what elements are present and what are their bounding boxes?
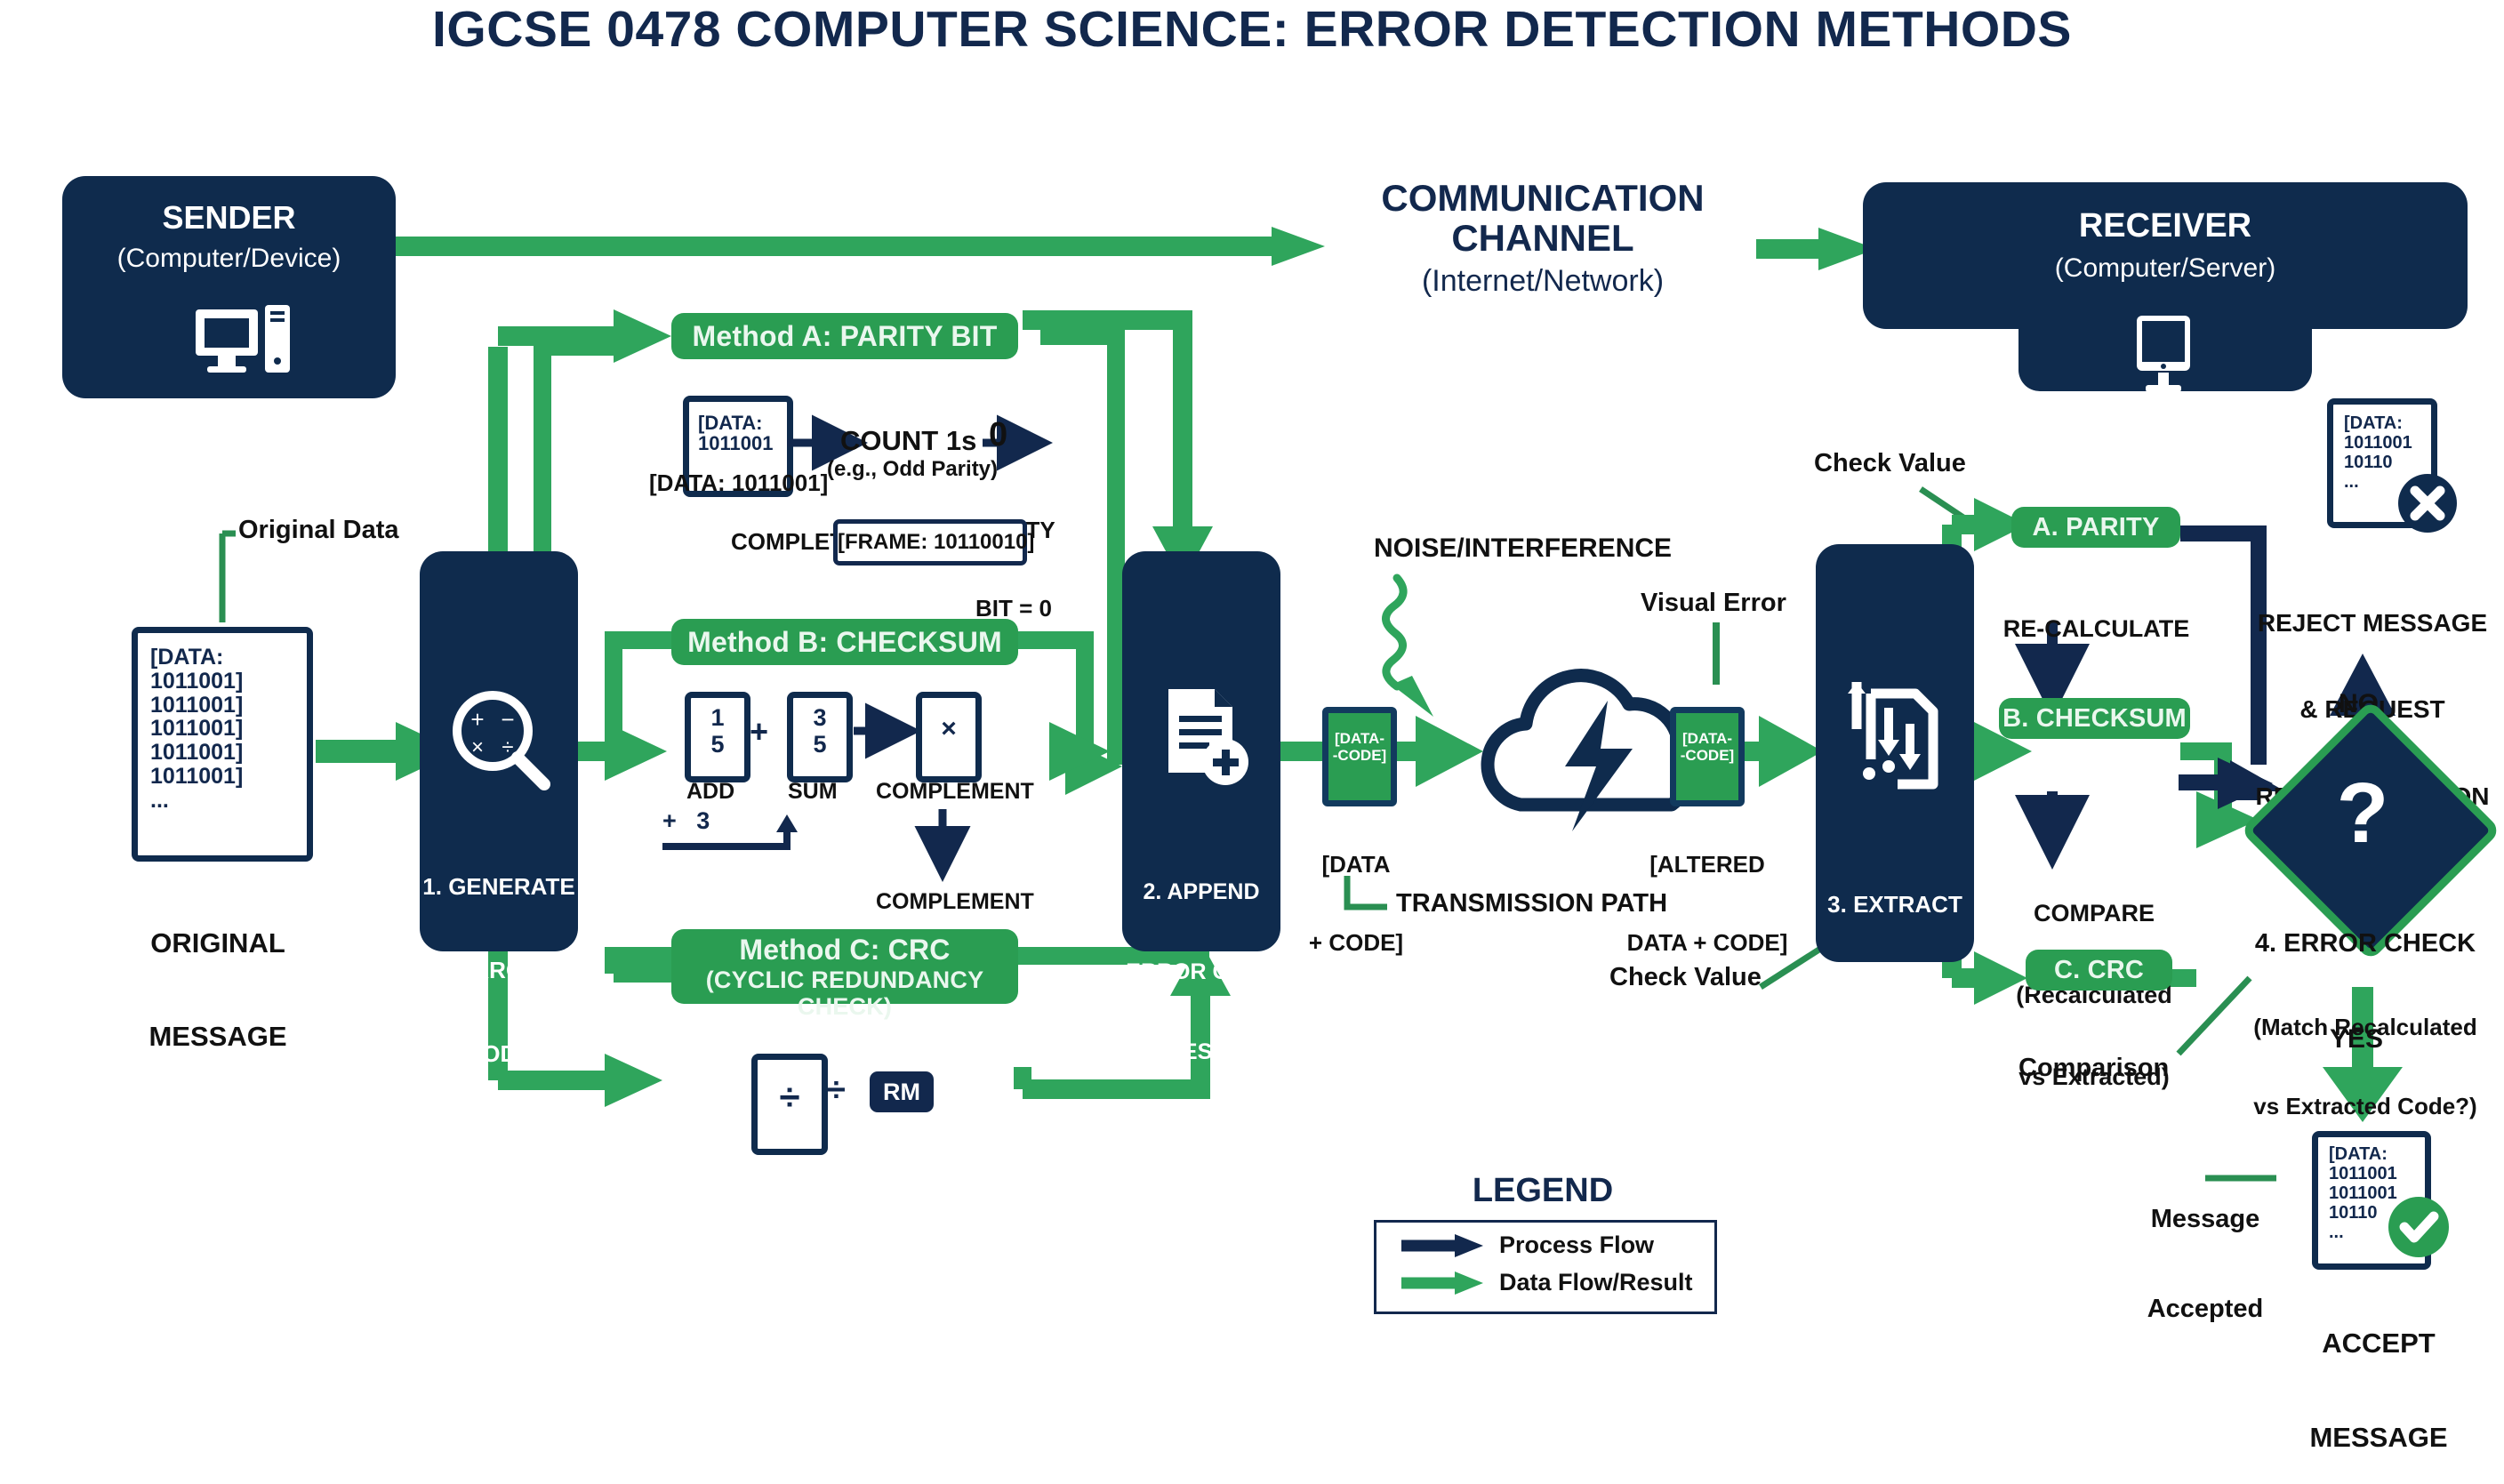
method-b-plus: + bbox=[750, 713, 768, 750]
original-data-callout: Original Data bbox=[238, 516, 399, 545]
rm-badge-label: RM bbox=[870, 1079, 934, 1106]
method-c-divide-op: ÷ bbox=[827, 1071, 846, 1110]
step1-line3: CODE bbox=[420, 1040, 578, 1068]
cross-badge-icon bbox=[2394, 469, 2461, 537]
method-b-doc-add: 1 5 bbox=[685, 692, 750, 782]
method-c-divide-glyph: ÷ bbox=[758, 1060, 822, 1119]
doc-line: 1011001] bbox=[150, 741, 307, 765]
doc-line: 1011001] bbox=[150, 670, 307, 694]
step1-generate-error-code[interactable]: + − × ÷ 1. GENERATE ERROR CODE bbox=[420, 551, 578, 951]
caption-line2: MESSAGE bbox=[98, 1022, 338, 1053]
step3-line1: 3. EXTRACT bbox=[1816, 891, 1974, 918]
method-c-doc: ÷ bbox=[751, 1054, 828, 1155]
accept-line1: ACCEPT bbox=[2267, 1328, 2490, 1359]
step1-line2: ERROR bbox=[420, 957, 578, 984]
doc-value-top: 3 bbox=[793, 705, 847, 732]
method-c-header[interactable]: Method C: CRC (CYCLIC REDUNDANCY CHECK) bbox=[671, 929, 1018, 1004]
step2-line2: ERROR CODE bbox=[1122, 959, 1280, 985]
check-badge-icon bbox=[2383, 1191, 2454, 1263]
packet-line2: -CODE] bbox=[1328, 748, 1391, 765]
method-b-label-add: ADD bbox=[686, 779, 734, 805]
receiver-subtitle: (Computer/Server) bbox=[1863, 253, 2468, 284]
doc-value-top: 1 bbox=[691, 705, 744, 732]
doc-value-bottom: 5 bbox=[793, 732, 847, 758]
verify-c-crc[interactable]: C. CRC bbox=[2026, 950, 2172, 991]
channel-line1: COMMUNICATION bbox=[1334, 178, 1752, 218]
extract-arrows-document-icon bbox=[1816, 678, 1974, 829]
method-a-frame-box: [FRAME: 10110010] bbox=[833, 519, 1027, 566]
magnifier-math-icon: + − × ÷ bbox=[420, 685, 578, 800]
decision-sub-line2: vs Extracted Code?) bbox=[2219, 1094, 2504, 1120]
method-a-header[interactable]: Method A: PARITY BIT bbox=[671, 313, 1018, 359]
step2-line3: TO MESSAGE bbox=[1122, 1039, 1280, 1065]
parity-line2: BIT = 0 bbox=[943, 596, 1085, 622]
original-message-doc: [DATA: 1011001] 1011001] 1011001] 101100… bbox=[132, 627, 313, 862]
step2-label: 2. APPEND ERROR CODE TO MESSAGE bbox=[1122, 825, 1280, 1119]
caption-line1: [DATA bbox=[1285, 852, 1427, 878]
doc-line: 1011001 bbox=[698, 433, 787, 453]
method-b-down-arrow bbox=[916, 807, 978, 878]
method-a-result: 0 bbox=[989, 416, 1007, 454]
receiver-title: RECEIVER bbox=[1863, 207, 2468, 245]
visual-error-label: Visual Error bbox=[1641, 589, 1786, 618]
channel-line2: CHANNEL bbox=[1334, 218, 1752, 258]
doc-line: [DATA: bbox=[150, 646, 307, 670]
decision-question-glyph: ? bbox=[2278, 765, 2447, 862]
doc-line: [DATA: bbox=[698, 413, 787, 433]
method-b-doc-complement: × bbox=[916, 692, 982, 782]
compare-line1: COMPARE bbox=[1965, 900, 2223, 927]
method-b-label-sum: SUM bbox=[788, 779, 838, 805]
packet-data-code: [DATA- -CODE] bbox=[1322, 707, 1397, 806]
svg-text:+: + bbox=[470, 706, 484, 733]
doc-line: [DATA: bbox=[2344, 413, 2431, 433]
compare-line3: vs Extracted) bbox=[1965, 1063, 2223, 1091]
reject-line1: REJECT MESSAGE bbox=[2241, 609, 2504, 638]
monitor-icon bbox=[2112, 307, 2219, 405]
caption-line1: ORIGINAL bbox=[98, 928, 338, 959]
noise-squiggle-icon bbox=[1385, 578, 1433, 717]
arrow-sender-to-channel bbox=[396, 227, 1325, 266]
arrow-channel-to-receiver bbox=[1756, 228, 1876, 270]
accepted-line1: Message bbox=[2116, 1205, 2294, 1235]
method-b-complement-glyph: × bbox=[922, 698, 975, 744]
doc-value-bottom: 5 bbox=[691, 732, 744, 758]
legend-item-label: Process Flow bbox=[1499, 1231, 1654, 1259]
accept-line2: MESSAGE bbox=[2267, 1422, 2490, 1453]
step3-line3: CODE bbox=[1816, 1058, 1974, 1086]
legend-box: Process Flow Data Flow/Result bbox=[1374, 1220, 1717, 1314]
caption-line2: + CODE] bbox=[1285, 930, 1427, 956]
legend-item-label: Data Flow/Result bbox=[1499, 1269, 1693, 1296]
accept-message-caption: ACCEPT MESSAGE bbox=[2267, 1264, 2490, 1484]
doc-line: 1011001] bbox=[150, 694, 307, 718]
doc-line: 1011001] bbox=[150, 717, 307, 741]
yes-label: YES bbox=[2330, 1024, 2383, 1055]
doc-line: 1011001 bbox=[2329, 1164, 2425, 1183]
method-a-doc-caption: [DATA: 1011001] bbox=[649, 469, 828, 497]
svg-text:÷: ÷ bbox=[502, 735, 513, 759]
packet-line1: [DATA- bbox=[1676, 731, 1738, 748]
step1-label: 1. GENERATE ERROR CODE bbox=[420, 818, 578, 1123]
method-b-loop-arrow bbox=[658, 827, 871, 880]
step1-line1: 1. GENERATE bbox=[420, 873, 578, 901]
legend-title: LEGEND bbox=[1374, 1172, 1712, 1210]
verify-a-parity[interactable]: A. PARITY bbox=[2011, 507, 2180, 548]
method-a-count: COUNT 1s bbox=[840, 425, 976, 457]
method-b-header[interactable]: Method B: CHECKSUM bbox=[671, 619, 1018, 665]
method-c-rm-badge: RM bbox=[870, 1071, 934, 1112]
method-b-label-complement: COMPLEMENT bbox=[876, 779, 1034, 805]
caption-line1: [ALTERED bbox=[1618, 852, 1796, 878]
check-value-top-label: Check Value bbox=[1814, 449, 1966, 478]
method-b-arrow bbox=[852, 716, 914, 751]
communication-channel-label: COMMUNICATION CHANNEL (Internet/Network) bbox=[1334, 178, 1752, 299]
step3-label: 3. EXTRACT ERROR CODE bbox=[1816, 836, 1974, 1141]
sender-box[interactable]: SENDER (Computer/Device) bbox=[62, 176, 396, 398]
noise-label: NOISE/INTERFERENCE bbox=[1374, 533, 1672, 564]
step2-append-error-code[interactable]: 2. APPEND ERROR CODE TO MESSAGE bbox=[1122, 551, 1280, 951]
step3-line2: ERROR bbox=[1816, 975, 1974, 1002]
verify-b-checksum[interactable]: B. CHECKSUM bbox=[1999, 698, 2190, 739]
method-a-frame: [FRAME: 10110010] bbox=[838, 530, 1023, 555]
packet-line1: [DATA- bbox=[1328, 731, 1391, 748]
method-c-title: Method C: CRC bbox=[671, 935, 1018, 967]
doc-line: ... bbox=[150, 789, 307, 813]
step2-line1: 2. APPEND bbox=[1122, 878, 1280, 905]
packet-line2: -CODE] bbox=[1676, 748, 1738, 765]
packet-altered-data-code: [DATA- -CODE] bbox=[1670, 707, 1745, 806]
method-c-subtitle: (CYCLIC REDUNDANCY CHECK) bbox=[671, 967, 1018, 1020]
method-b-doc-sum: 3 5 bbox=[787, 692, 853, 782]
svg-text:−: − bbox=[501, 706, 514, 733]
step3-extract-error-code[interactable]: 3. EXTRACT ERROR CODE bbox=[1816, 544, 1974, 962]
document-plus-icon bbox=[1122, 680, 1280, 814]
original-message-caption: ORIGINAL MESSAGE bbox=[98, 867, 338, 1083]
desktop-computer-icon bbox=[62, 176, 396, 398]
doc-line: 1011001] bbox=[150, 765, 307, 789]
doc-line: 1011001 bbox=[2344, 433, 2431, 453]
channel-subtitle: (Internet/Network) bbox=[1334, 264, 1752, 299]
altered-packet-caption: [ALTERED DATA + CODE] bbox=[1618, 800, 1796, 982]
svg-text:×: × bbox=[471, 735, 484, 759]
doc-line: [DATA: bbox=[2329, 1144, 2425, 1164]
decision-title: 4. ERROR CHECK bbox=[2236, 929, 2494, 959]
recalc-line1: RE-CALCULATE bbox=[1978, 615, 2214, 643]
caption-line2: DATA + CODE] bbox=[1618, 930, 1796, 956]
method-b-complement-below: COMPLEMENT bbox=[876, 889, 1034, 915]
check-value-bottom-label: Check Value bbox=[1609, 963, 1762, 992]
